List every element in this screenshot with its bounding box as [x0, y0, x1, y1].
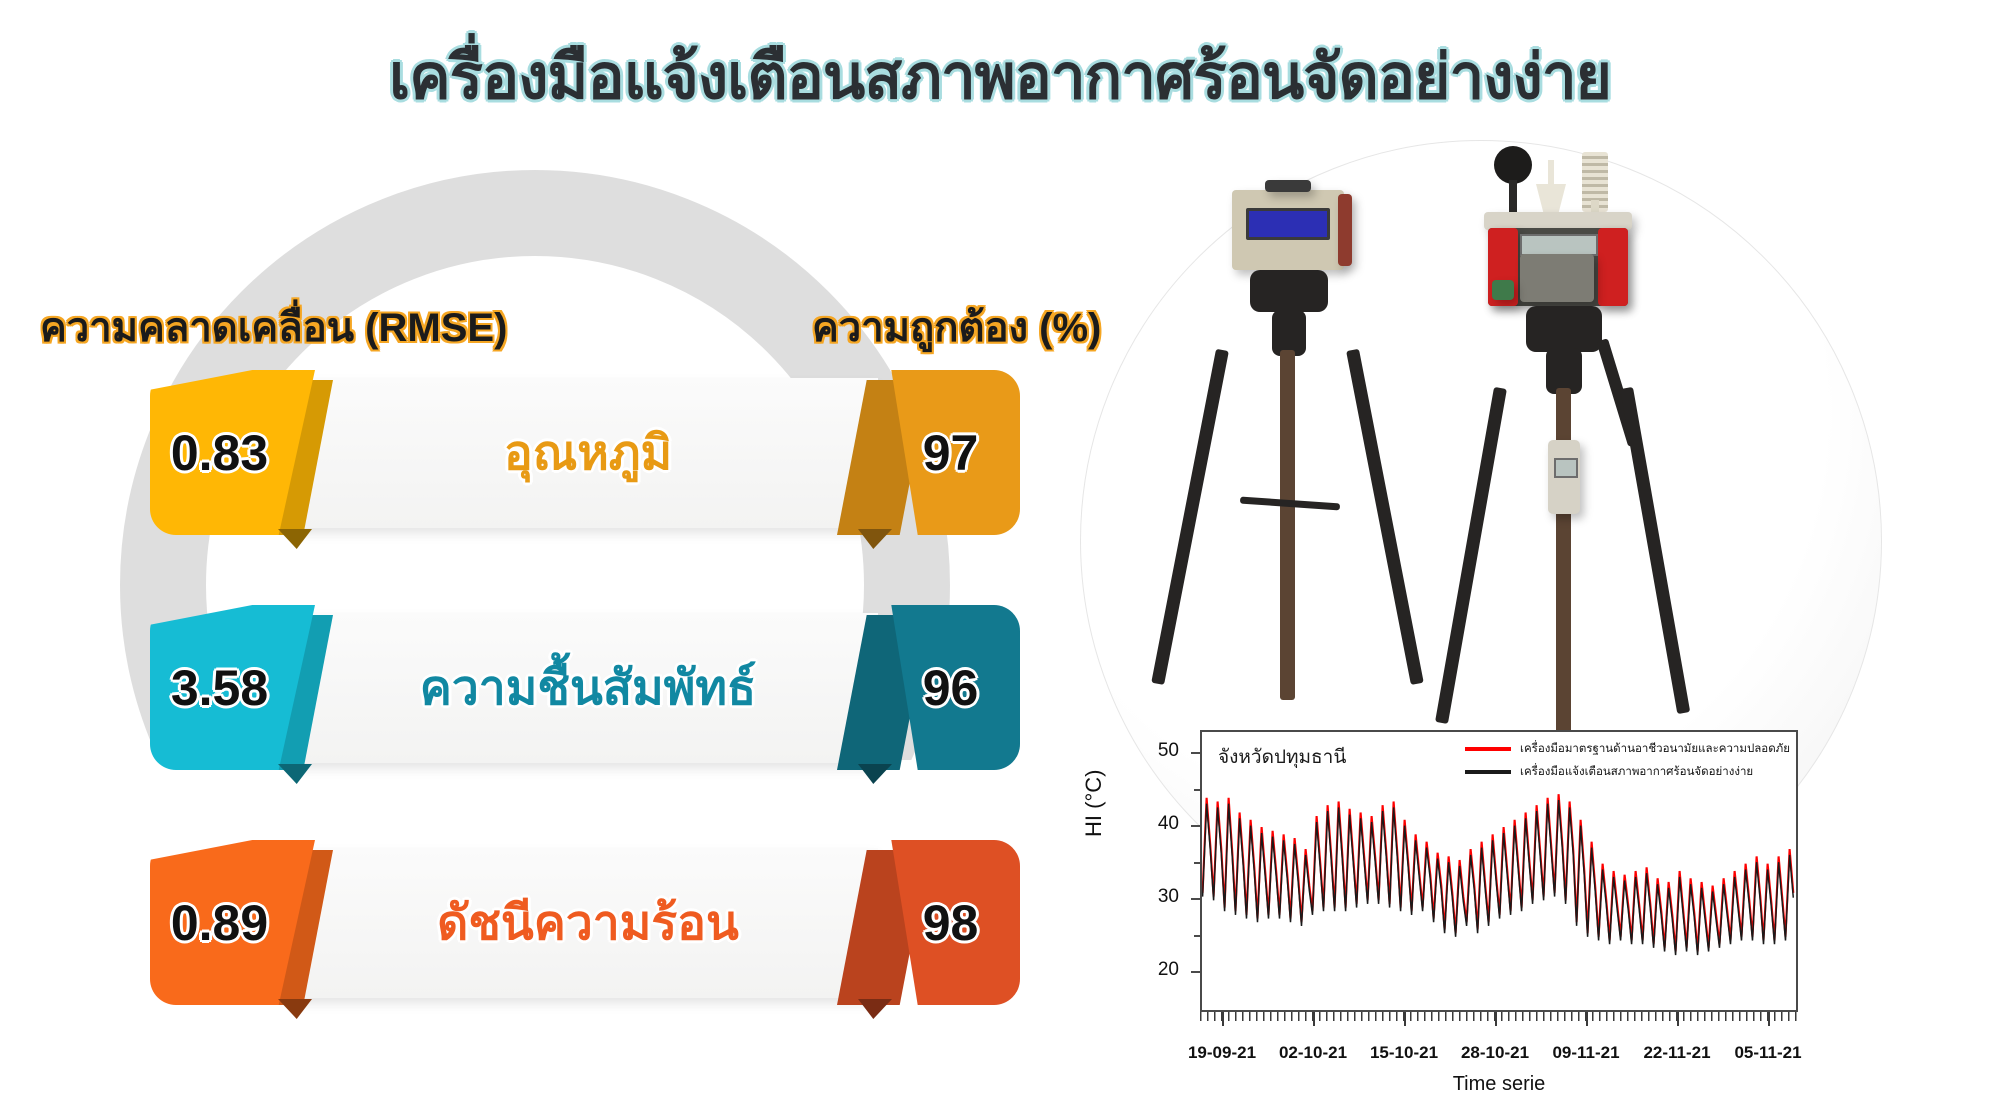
x-tick-label: 28-10-21 [1461, 1043, 1529, 1063]
handheld-logger-screen [1554, 458, 1578, 478]
y-tick-label: 30 [1135, 886, 1179, 908]
accuracy-cap: 96 [855, 605, 1020, 770]
metric-label: อุณหภูมิ [298, 378, 878, 528]
rmse-cap: 0.83 [150, 370, 315, 535]
x-tick-label: 22-11-21 [1643, 1043, 1710, 1063]
accuracy-value: 96 [923, 659, 979, 717]
x-axis-label: Time serie [1200, 1073, 1798, 1096]
metric-panel: ดัชนีความร้อน [298, 848, 878, 998]
metric-panel: อุณหภูมิ [298, 378, 878, 528]
x-axis-minor-ticks [1200, 1012, 1798, 1021]
device-left-side-panel [1338, 194, 1352, 266]
accuracy-value: 98 [923, 894, 979, 952]
rmse-value: 3.58 [171, 659, 268, 717]
tripod-head [1250, 270, 1328, 312]
rmse-value: 0.83 [171, 424, 268, 482]
series-line [1203, 800, 1794, 955]
rmse-cap: 0.89 [150, 840, 315, 1005]
y-axis-label: HI (°C) [1081, 770, 1107, 837]
y-tick-mark-minor [1194, 789, 1200, 791]
series-line [1203, 794, 1794, 951]
device-left-top-handle [1265, 180, 1311, 192]
tripod-leg-right [1620, 387, 1690, 714]
y-tick-mark [1191, 898, 1200, 900]
tripod-head [1526, 306, 1602, 352]
x-tick-label: 15-10-21 [1370, 1043, 1438, 1063]
metric-panel: ความชื้นสัมพัทธ์ [298, 613, 878, 763]
metric-label: ความชื้นสัมพัทธ์ [298, 613, 878, 763]
y-tick-mark-minor [1194, 935, 1200, 937]
metric-label: ดัชนีความร้อน [298, 848, 878, 998]
x-tick-label: 09-11-21 [1552, 1043, 1619, 1063]
y-tick-label: 20 [1135, 959, 1179, 981]
y-tick-mark [1191, 971, 1200, 973]
y-tick-mark [1191, 752, 1200, 754]
device-right-sticker [1492, 280, 1514, 300]
rmse-cap: 3.58 [150, 605, 315, 770]
wet-bulb-reservoir [1536, 184, 1566, 212]
y-tick-mark-minor [1194, 862, 1200, 864]
metric-row: ความชื้นสัมพัทธ์ 3.58 96 [150, 605, 1020, 770]
plot-area: จังหวัดปทุมธานี เครื่องมือมาตรฐานด้านอาช… [1200, 730, 1798, 1012]
y-tick-mark [1191, 825, 1200, 827]
accuracy-cap: 98 [855, 840, 1020, 1005]
device-right-lcd-screen [1520, 234, 1598, 256]
x-tick-label: 02-10-21 [1279, 1043, 1347, 1063]
black-globe-sensor [1494, 146, 1532, 184]
accuracy-cap: 97 [855, 370, 1020, 535]
device-right-keypad [1520, 254, 1594, 302]
rmse-value: 0.89 [171, 894, 268, 952]
series-lines [1202, 732, 1796, 1010]
page-title: เครื่องมือแจ้งเตือนสภาพอากาศร้อนจัดอย่าง… [0, 28, 2000, 126]
tripod-leg-center [1280, 350, 1295, 700]
metric-row: ดัชนีความร้อน 0.89 98 [150, 840, 1020, 1005]
y-tick-label: 40 [1135, 813, 1179, 835]
metric-row: อุณหภูมิ 0.83 97 [150, 370, 1020, 535]
y-tick-label: 50 [1135, 740, 1179, 762]
device-left-tripod [1210, 170, 1400, 730]
column-header-rmse: ความคลาดเคลื่อน (RMSE) [40, 295, 507, 359]
black-globe-stalk [1509, 180, 1517, 216]
device-right-right-bezel [1598, 228, 1628, 306]
comparison-line-chart: HI (°C) จังหวัดปทุมธานี เครื่องมือมาตรฐา… [1085, 725, 1825, 1095]
device-left-lcd-screen [1246, 208, 1330, 240]
x-tick-label: 05-11-21 [1734, 1043, 1801, 1063]
device-right-tripod [1470, 140, 1700, 740]
accuracy-value: 97 [923, 424, 979, 482]
x-tick-label: 19-09-21 [1188, 1043, 1256, 1063]
